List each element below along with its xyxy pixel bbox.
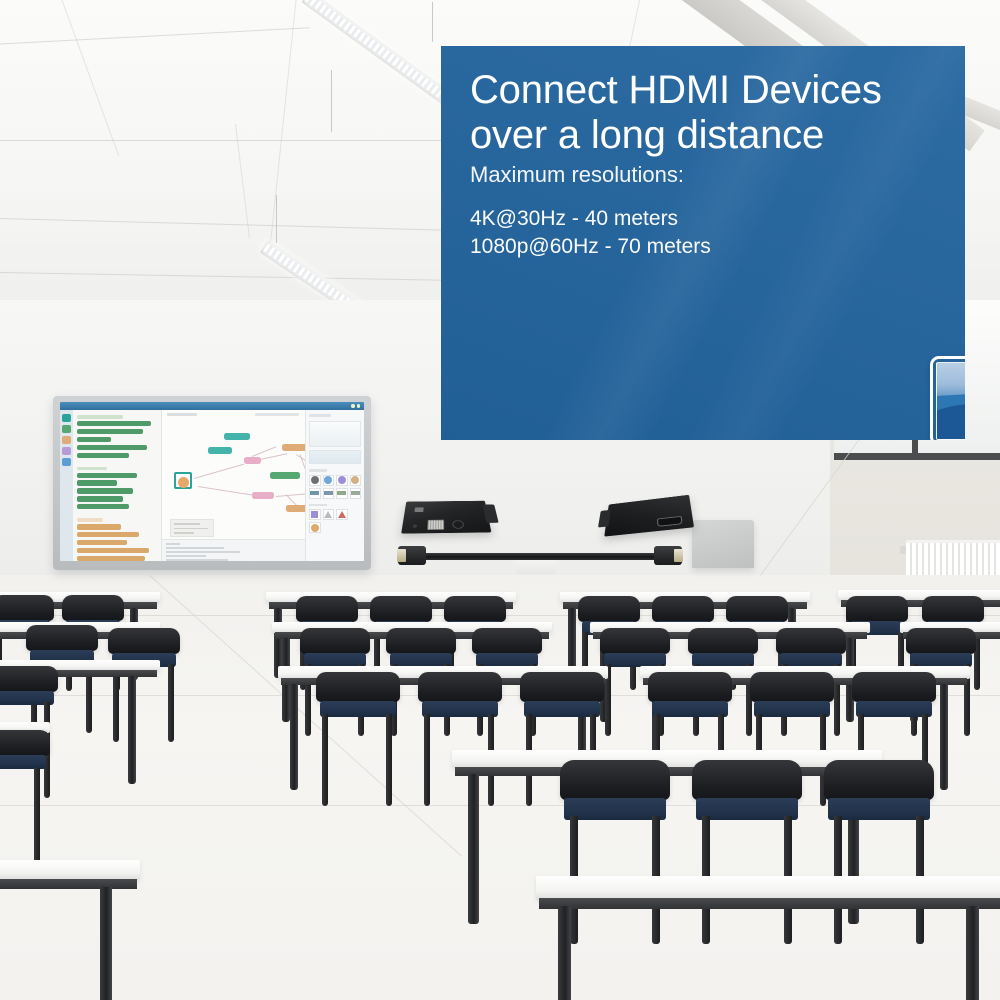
code-panel[interactable] (162, 539, 305, 561)
swatch-triangle-red[interactable] (336, 509, 348, 520)
rj45-port (427, 520, 444, 530)
resolution-line-1: 4K@30Hz - 40 meters (470, 207, 678, 231)
node-pink-3[interactable] (252, 492, 274, 499)
display-monitor-icon (930, 356, 965, 440)
icon-swatch-grid[interactable] (309, 509, 361, 533)
interactive-whiteboard[interactable] (53, 396, 371, 570)
whiteboard-screen[interactable] (60, 402, 364, 561)
rail-icon-2[interactable] (62, 425, 71, 433)
app-icon-rail[interactable] (60, 410, 73, 561)
scene-photo: Connect HDMI Devices over a long distanc… (0, 0, 1000, 1000)
swatch-bar-3[interactable] (336, 488, 348, 499)
block-palette[interactable] (73, 410, 161, 561)
node-teal-2[interactable] (208, 447, 232, 454)
callout-title-line2: over a long distance (470, 113, 824, 157)
app-title-bar (60, 402, 364, 410)
product-callout-panel: Connect HDMI Devices over a long distanc… (441, 46, 965, 440)
rail-icon-1[interactable] (62, 414, 71, 422)
swatch-circle-purple[interactable] (336, 475, 348, 486)
callout-title-line1: Connect HDMI Devices (470, 68, 882, 112)
rail-icon-3[interactable] (62, 436, 71, 444)
grey-laptop-on-desk (692, 520, 754, 568)
resolution-line-2: 1080p@60Hz - 70 meters (470, 235, 711, 259)
hdmi-port (657, 516, 683, 527)
swatch-bar-2[interactable] (323, 488, 335, 499)
hdmi-plug-left (398, 546, 426, 565)
node-pink-1[interactable] (244, 457, 261, 464)
node-tan-1[interactable] (282, 444, 306, 451)
swatch-circle-tan[interactable] (350, 475, 362, 486)
rail-icon-5[interactable] (62, 458, 71, 466)
node-tan-2[interactable] (286, 505, 306, 512)
swatch-triangle-grey[interactable] (323, 509, 335, 520)
swatch-square-purple[interactable] (309, 509, 321, 520)
node-green-2[interactable] (270, 472, 300, 479)
shape-swatch-grid[interactable] (309, 475, 361, 499)
hdmi-plug-right (654, 546, 682, 565)
swatch-circle-orange[interactable] (309, 522, 321, 533)
callout-title: Connect HDMI Devices over a long distanc… (470, 68, 940, 158)
dc-power-jack (452, 520, 464, 529)
fixture-hanger-wire-1 (331, 70, 332, 132)
selected-node[interactable] (174, 472, 192, 489)
swatch-empty (350, 509, 362, 520)
canvas-note[interactable] (170, 519, 214, 537)
status-led (413, 525, 418, 528)
hdmi-cable (418, 553, 660, 560)
node-teal-1[interactable] (224, 433, 250, 440)
properties-panel[interactable] (306, 410, 364, 561)
swatch-bar-1[interactable] (309, 488, 321, 499)
device-logo (414, 507, 423, 512)
window-controls[interactable] (351, 404, 360, 408)
hdmi-extender-transmitter (401, 501, 491, 534)
fixture-hanger-wire-3 (276, 195, 277, 243)
callout-subhead: Maximum resolutions: (470, 162, 684, 188)
swatch-circle-grey[interactable] (309, 475, 321, 486)
swatch-circle-blue[interactable] (323, 475, 335, 486)
diagram-canvas[interactable] (161, 410, 306, 561)
wall-radiator (906, 540, 1000, 578)
rail-icon-4[interactable] (62, 447, 71, 455)
swatch-bar-4[interactable] (350, 488, 362, 499)
fixture-hanger-wire-2 (432, 2, 433, 42)
